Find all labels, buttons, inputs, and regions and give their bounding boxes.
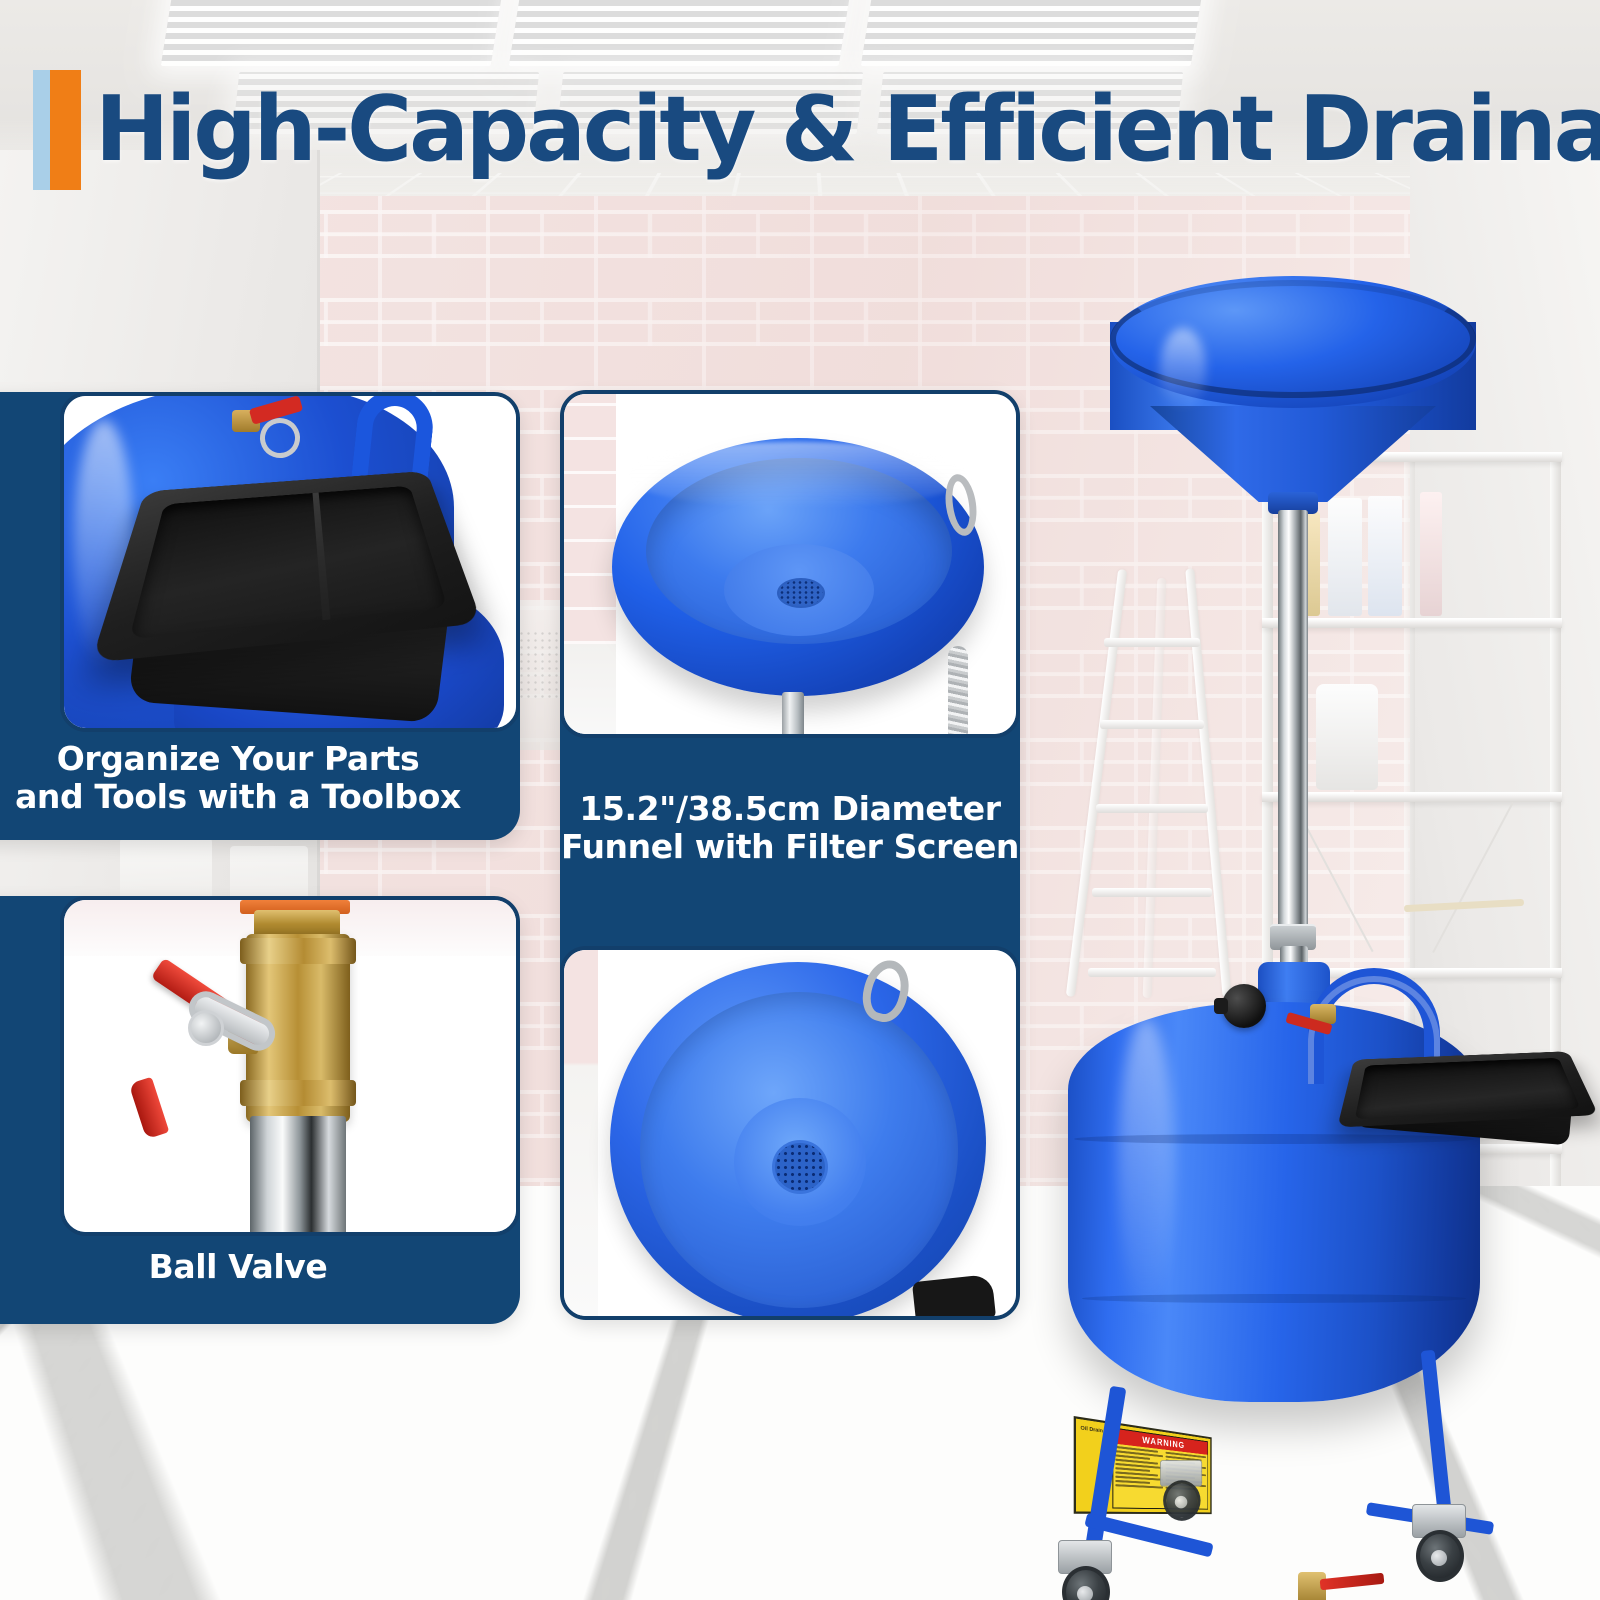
caption-line-2: and Tools with a Toolbox [0, 778, 520, 816]
headline-block: High-Capacity & Efficient Drainage [33, 70, 1600, 190]
background-sliver [564, 950, 598, 1320]
caption-line-1: Ball Valve [0, 1248, 520, 1286]
product-funnel-cone [1150, 406, 1436, 502]
background-brick-sliver [564, 394, 616, 644]
brass-ball-valve-photo [60, 896, 520, 1236]
feature-card-ball-valve: Ball Valve [0, 896, 520, 1324]
accent-bar-orange [50, 70, 81, 190]
chrome-tube [782, 692, 804, 738]
product-funnel-highlight [1160, 328, 1206, 410]
toolbox-tray-on-tank-photo [60, 392, 520, 732]
chrome-standpipe [250, 1116, 346, 1236]
flexible-metal-hose [948, 646, 968, 738]
background-floor-sliver [564, 644, 616, 738]
feature-card-funnel: 15.2"/38.5cm Diameter Funnel with Filter… [560, 390, 1020, 1320]
caption-line-1: Organize Your Parts [0, 740, 520, 778]
tank-handle [352, 392, 437, 484]
caster-wheel-edge [912, 1274, 996, 1320]
product-feature-image: High-Capacity & Efficient Drainage [0, 0, 1600, 1600]
caption-toolbox: Organize Your Parts and Tools with a Too… [0, 740, 520, 817]
filter-screen-mesh [772, 1140, 828, 1194]
caption-funnel: 15.2"/38.5cm Diameter Funnel with Filter… [560, 790, 1020, 867]
caption-line-2: Funnel with Filter Screen [560, 828, 1020, 866]
caption-ball-valve: Ball Valve [0, 1248, 520, 1286]
accent-bars [33, 70, 81, 190]
black-locking-knob [1222, 984, 1266, 1028]
brass-hex-nut [240, 1080, 356, 1106]
tank-seam [1082, 1294, 1466, 1303]
caption-line-1: 15.2"/38.5cm Diameter [560, 790, 1020, 828]
accent-bar-light [33, 70, 50, 190]
tank-seam [1074, 1134, 1474, 1144]
feature-card-toolbox: Organize Your Parts and Tools with a Too… [0, 392, 520, 840]
tray-interior [129, 486, 448, 640]
page-title: High-Capacity & Efficient Drainage [95, 85, 1600, 175]
tank-highlight [1118, 1018, 1174, 1318]
funnel-rim-highlight [624, 442, 972, 508]
telescoping-chrome-pole [1278, 510, 1308, 930]
lever-pivot-nut [188, 1010, 224, 1046]
brass-hex-nut [240, 938, 356, 964]
filter-screen-mesh [777, 578, 825, 608]
funnel-top-view-photo [560, 946, 1020, 1320]
wheeled-oil-drain-tank: Oil Drain WARNING [1010, 276, 1600, 1536]
funnel-side-view-photo [560, 390, 1020, 738]
